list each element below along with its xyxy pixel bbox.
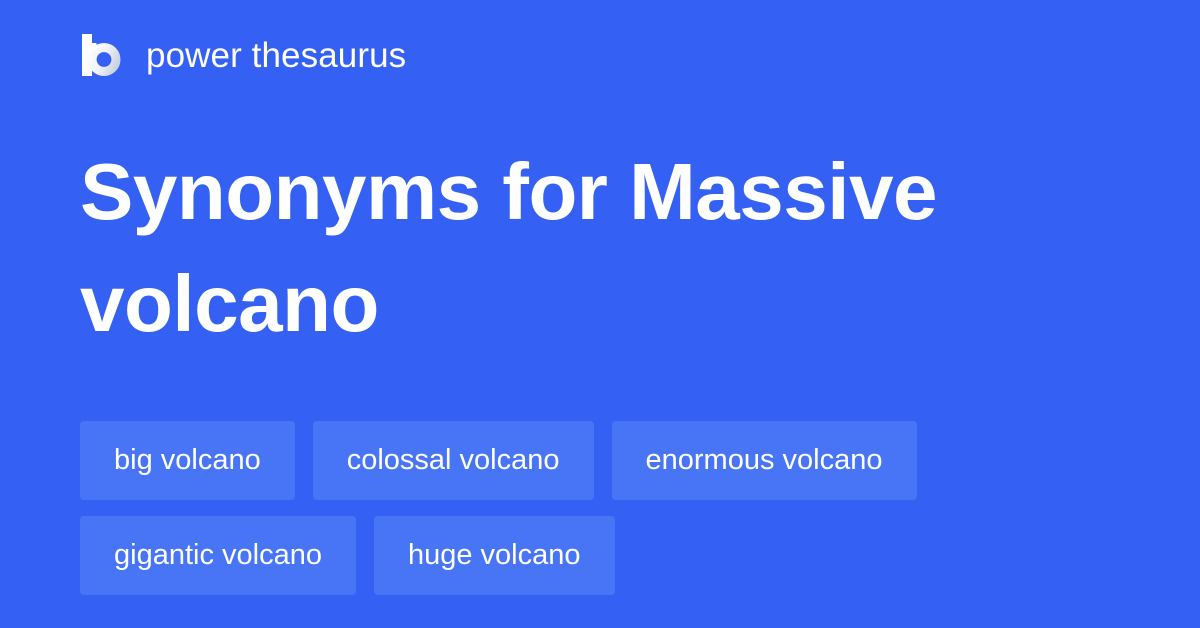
synonym-chip[interactable]: colossal volcano: [313, 421, 594, 500]
synonym-chip[interactable]: enormous volcano: [612, 421, 917, 500]
page-title: Synonyms for Massive volcano: [80, 136, 1080, 360]
brand-name: power thesaurus: [146, 38, 406, 73]
synonym-chip[interactable]: gigantic volcano: [80, 516, 356, 595]
synonym-chip-list: big volcano colossal volcano enormous vo…: [80, 421, 1140, 595]
synonym-chip[interactable]: big volcano: [80, 421, 295, 500]
brand-header[interactable]: power thesaurus: [80, 26, 406, 84]
synonyms-share-card: power thesaurus Synonyms for Massive vol…: [0, 0, 1200, 628]
synonym-chip[interactable]: huge volcano: [374, 516, 615, 595]
power-thesaurus-b-logo-icon: [80, 33, 124, 77]
